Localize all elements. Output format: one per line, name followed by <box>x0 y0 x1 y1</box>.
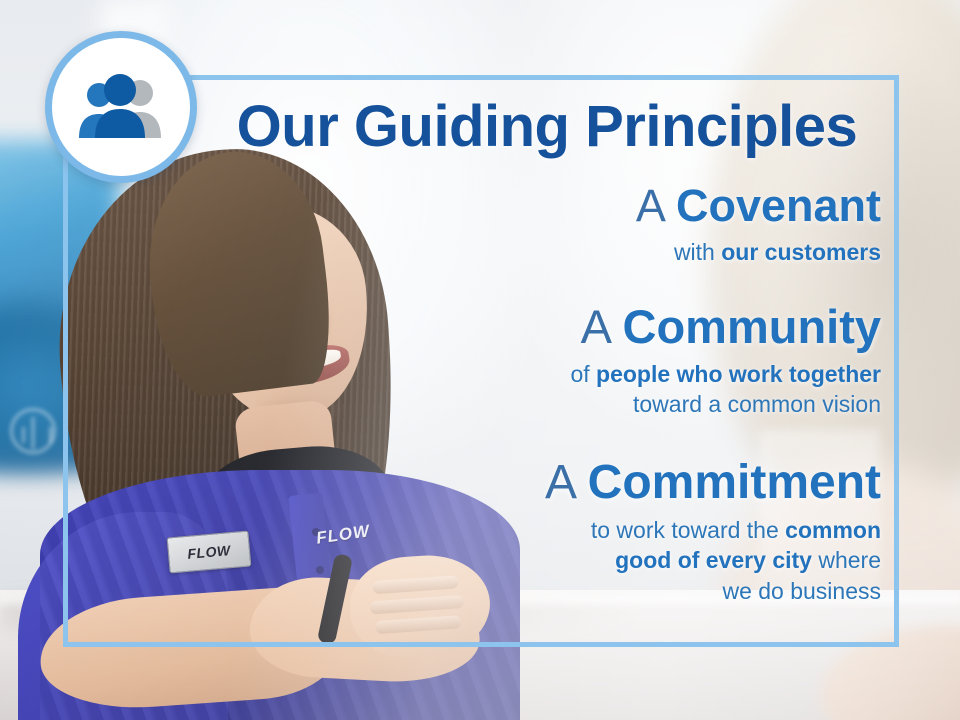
finger <box>370 595 465 615</box>
people-group-badge <box>45 31 197 183</box>
guiding-principles-banner: FLOW FLOW <box>0 0 960 720</box>
employee-name-badge: FLOW <box>167 530 252 573</box>
finger <box>372 575 459 594</box>
finger <box>375 615 462 634</box>
people-group-icon <box>73 74 169 140</box>
shirt-button <box>316 566 324 574</box>
name-badge-brand-text: FLOW <box>187 543 231 561</box>
